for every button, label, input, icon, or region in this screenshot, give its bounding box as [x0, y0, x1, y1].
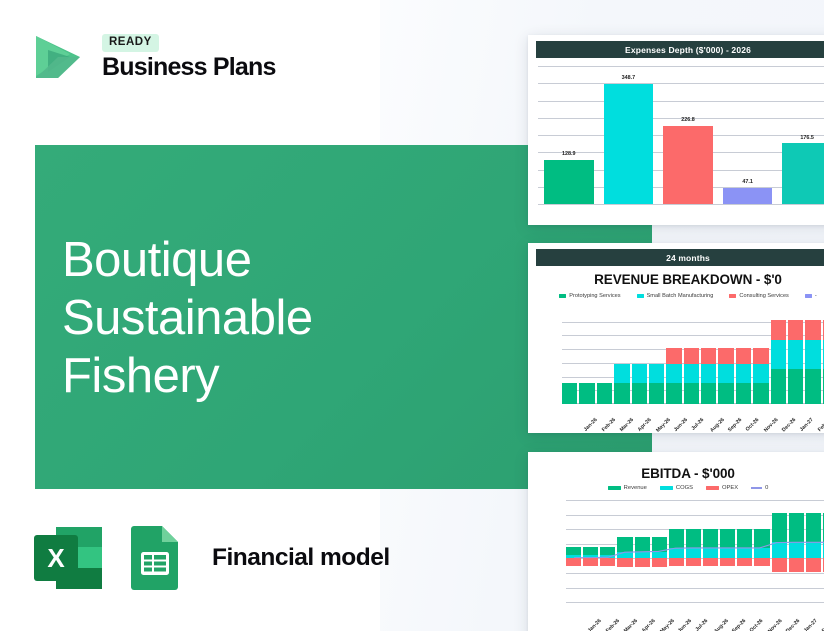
x-tick: Aug-26 — [713, 618, 730, 631]
legend-item[interactable]: 0 — [751, 485, 768, 491]
expenses-bars: 128.9 348.7 226.8 47.1 176.5 — [544, 66, 824, 204]
bar-column[interactable]: 176.5 — [782, 66, 824, 204]
legend-item[interactable]: - — [805, 293, 817, 299]
legend-label: Revenue — [624, 485, 647, 491]
legend-swatch-icon — [729, 294, 736, 298]
chart-title: REVENUE BREAKDOWN - $'0 — [528, 272, 824, 287]
x-tick: Apr-26 — [637, 417, 653, 433]
chart-card-revenue-breakdown[interactable]: 24 months REVENUE BREAKDOWN - $'0 Protot… — [528, 243, 824, 433]
ebitda-line-series — [566, 500, 824, 602]
legend-label: 0 — [765, 485, 768, 491]
legend-swatch-icon — [706, 486, 719, 491]
bar-column[interactable] — [614, 308, 629, 404]
revenue-plot-area: 350 300 250 200 150 100 50 - — [536, 304, 824, 422]
x-tick: Jan-26 — [587, 618, 603, 631]
legend-label: COGS — [676, 485, 693, 491]
bar-column[interactable] — [597, 308, 612, 404]
x-tick: Jun-26 — [673, 417, 689, 433]
legend-label: Prototyping Services — [569, 293, 620, 299]
legend-swatch-icon — [637, 294, 644, 298]
bar-column[interactable]: 128.9 — [544, 66, 594, 204]
bar[interactable] — [544, 160, 594, 204]
bar-column[interactable] — [788, 308, 803, 404]
bar-column[interactable] — [666, 308, 681, 404]
stacked-bars — [562, 308, 824, 404]
bar-column[interactable]: 226.8 — [663, 66, 713, 204]
footer-label: Financial model — [212, 544, 390, 572]
bar-value-label: 128.9 — [562, 151, 576, 157]
bar-column[interactable] — [805, 308, 820, 404]
revenue-bars-area — [562, 308, 824, 404]
bar-column[interactable] — [771, 308, 786, 404]
x-tick: Mar-26 — [623, 618, 639, 631]
x-tick: Jun-26 — [677, 618, 693, 631]
x-tick: Nov-26 — [763, 417, 779, 433]
bar-column[interactable] — [649, 308, 664, 404]
bar-column[interactable] — [753, 308, 768, 404]
x-tick: Dec-26 — [785, 618, 801, 631]
svg-text:X: X — [47, 543, 65, 573]
footer-formats: X Financial model — [30, 523, 390, 593]
ebitda-plot-area: 400 300 200 100 - (100) (200) (300) — [536, 496, 824, 624]
bar-value-label: 176.5 — [800, 135, 814, 141]
brand-name: Business Plans — [102, 55, 276, 80]
x-tick: Sep-26 — [731, 618, 747, 631]
bar-column[interactable] — [632, 308, 647, 404]
x-tick: Dec-26 — [781, 417, 797, 433]
x-tick: Oct-26 — [749, 618, 765, 631]
x-tick: Jul-26 — [694, 618, 709, 631]
chart-legend: Prototyping Services Small Batch Manufac… — [528, 293, 824, 299]
legend-swatch-icon — [608, 486, 621, 491]
ready-badge: READY — [102, 34, 159, 52]
bar-value-label: 348.7 — [622, 75, 636, 81]
legend-swatch-icon — [660, 486, 673, 491]
bar-column[interactable] — [562, 308, 577, 404]
legend-label: - — [815, 293, 817, 299]
x-tick: Jan-27 — [799, 417, 815, 433]
expenses-plot-area: 128.9 348.7 226.8 47.1 176.5 — [538, 66, 824, 204]
legend-line-icon — [751, 487, 762, 489]
bar[interactable] — [663, 126, 713, 204]
chart-title: EBITDA - $'000 — [528, 466, 824, 481]
x-tick: Apr-26 — [641, 618, 657, 631]
legend-item[interactable]: Prototyping Services — [559, 293, 620, 299]
bar-value-label: 47.1 — [742, 179, 753, 185]
bar-column[interactable] — [718, 308, 733, 404]
x-tick: May-26 — [659, 618, 676, 631]
x-tick: Feb-27 — [817, 417, 824, 433]
legend-item[interactable]: Small Batch Manufacturing — [637, 293, 714, 299]
x-tick: Oct-26 — [745, 417, 761, 433]
x-tick: May-26 — [655, 417, 672, 433]
x-tick: Jan-27 — [803, 618, 819, 631]
x-tick: Nov-26 — [767, 618, 783, 631]
legend-label: OPEX — [722, 485, 738, 491]
x-tick: Mar-26 — [619, 417, 635, 433]
slide-canvas: READY Business Plans Boutique Sustainabl… — [0, 0, 824, 631]
chart-card-ebitda[interactable]: EBITDA - $'000 Revenue COGS OPEX 0 400 3… — [528, 452, 824, 631]
google-sheets-icon — [124, 523, 186, 593]
legend-label: Consulting Services — [739, 293, 788, 299]
play-triangle-logo-icon — [28, 28, 88, 86]
x-tick: Jul-26 — [690, 417, 705, 432]
x-tick: Feb-26 — [601, 417, 617, 433]
bar[interactable] — [604, 84, 654, 204]
bar-column[interactable] — [684, 308, 699, 404]
bar-value-label: 226.8 — [681, 117, 695, 123]
bar[interactable] — [723, 188, 773, 204]
brand-logo: READY Business Plans — [28, 28, 276, 86]
ebitda-bars-area — [566, 500, 824, 602]
chart-header-bar: 24 months — [536, 249, 824, 266]
microsoft-excel-icon: X — [30, 523, 106, 593]
bar-column[interactable] — [579, 308, 594, 404]
legend-item[interactable]: Revenue — [608, 485, 647, 491]
x-tick: Sep-26 — [727, 417, 743, 433]
bar-column[interactable]: 348.7 — [604, 66, 654, 204]
legend-swatch-icon — [805, 294, 812, 298]
legend-label: Small Batch Manufacturing — [647, 293, 714, 299]
bar-column[interactable]: 47.1 — [723, 66, 773, 204]
chart-legend: Revenue COGS OPEX 0 — [528, 485, 824, 491]
legend-item[interactable]: Consulting Services — [729, 293, 788, 299]
legend-item[interactable]: COGS — [660, 485, 693, 491]
x-tick: Jan-26 — [583, 417, 599, 433]
bar-column[interactable] — [701, 308, 716, 404]
x-tick: Aug-26 — [709, 417, 726, 433]
bar-column[interactable] — [736, 308, 751, 404]
chart-header-bar: Expenses Depth ($'000) - 2026 — [536, 41, 824, 58]
legend-item[interactable]: OPEX — [706, 485, 738, 491]
y-tick: - — [818, 408, 824, 414]
x-tick: Feb-26 — [605, 618, 621, 631]
bar[interactable] — [782, 143, 824, 204]
chart-card-expenses-depth[interactable]: Expenses Depth ($'000) - 2026 128.9 348.… — [528, 35, 824, 225]
page-title: Boutique Sustainable Fishery — [62, 232, 482, 405]
legend-swatch-icon — [559, 294, 566, 298]
